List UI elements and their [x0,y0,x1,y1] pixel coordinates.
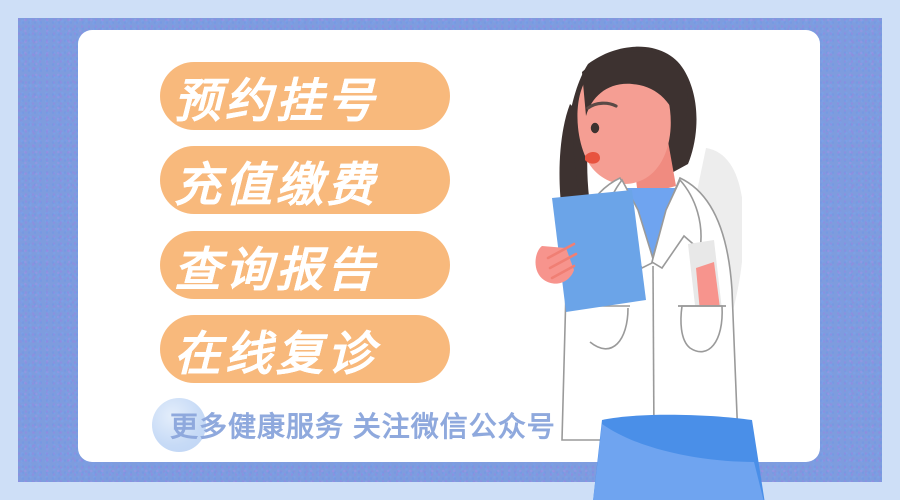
eye [591,123,599,133]
service-pill-3-label: 查询报告 [174,231,474,299]
service-pill-1-label: 预约挂号 [174,62,474,130]
doctor-illustration [470,0,900,500]
poster-canvas: 预约挂号 充值缴费 查询报告 在线复诊 更多健康服务 关注微信公众号 [0,0,900,500]
service-pill-4-label: 在线复诊 [174,315,474,383]
coat-center-seam [653,266,654,440]
service-pill-2-label: 充值缴费 [174,146,474,214]
